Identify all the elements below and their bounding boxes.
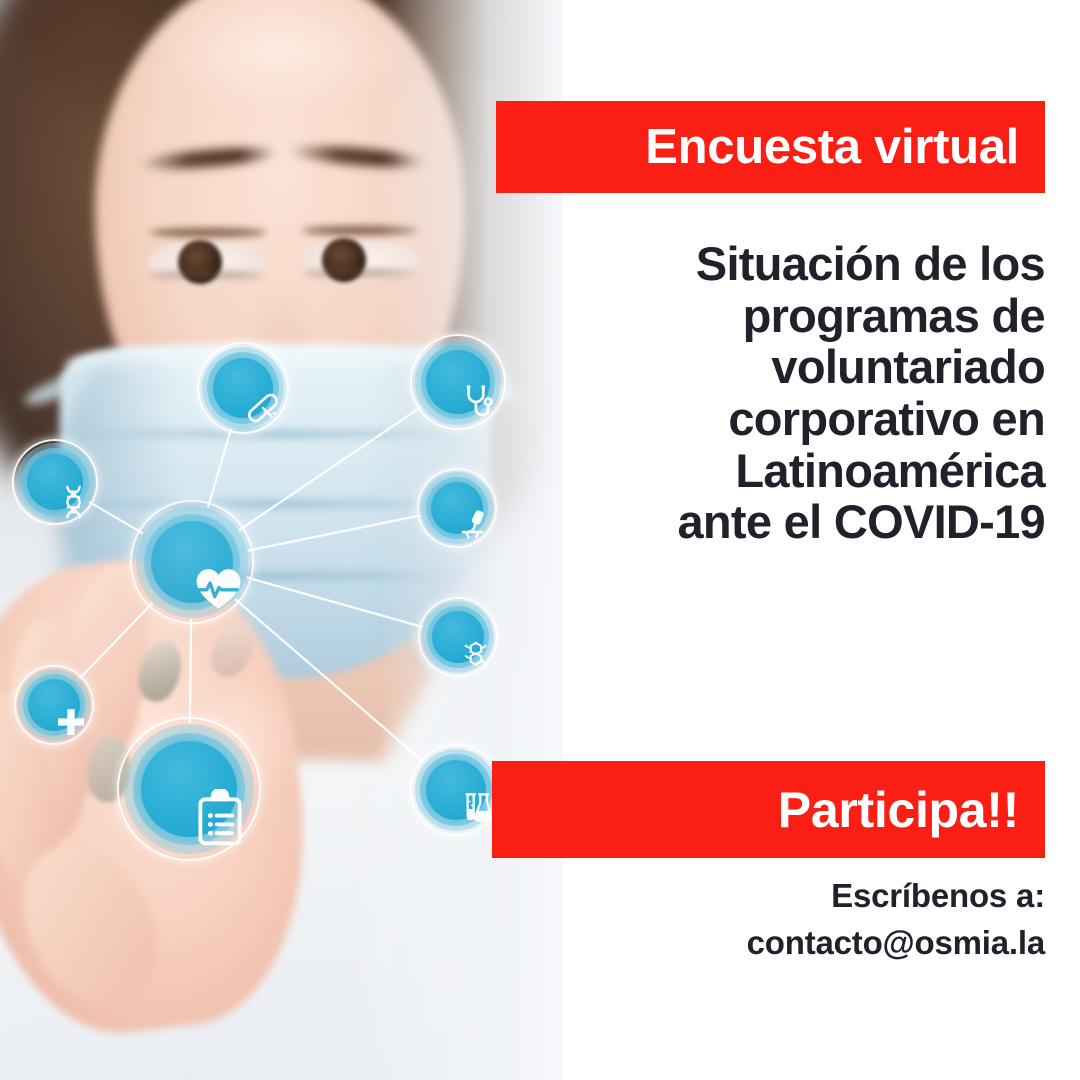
contact-block: Escríbenos a: contacto@osmia.la <box>560 873 1045 967</box>
participate-label: Participa!! <box>778 785 1045 835</box>
hologram-link <box>80 603 153 678</box>
call-to-action-banner[interactable]: Participa!! <box>492 761 1045 858</box>
page-title: Situación de los programas de voluntaria… <box>560 238 1045 548</box>
hologram-link <box>89 502 143 533</box>
hologram-node-molecule[interactable] <box>418 597 498 677</box>
hologram-link <box>190 619 191 723</box>
headline-line-1: Situación de los <box>560 238 1045 290</box>
headline-line-4: corporativo en <box>560 393 1045 445</box>
poster-canvas: Encuesta virtual Situación de los progra… <box>0 0 1080 1080</box>
hologram-node-microscope[interactable] <box>417 468 497 548</box>
hologram-node-flask[interactable] <box>410 744 502 836</box>
headline-line-3: voluntariado <box>560 341 1045 393</box>
hologram-link <box>208 429 231 508</box>
hologram-node-dna[interactable] <box>12 439 98 525</box>
contact-prompt: Escríbenos a: <box>560 873 1045 920</box>
hologram-node-clipboard[interactable] <box>117 717 261 861</box>
survey-type-banner: Encuesta virtual <box>496 101 1045 193</box>
hologram-node-pill[interactable] <box>197 342 289 434</box>
hologram-link <box>248 515 421 550</box>
headline-line-5: Latinoamérica <box>560 445 1045 497</box>
headline-line-6: ante el COVID-19 <box>560 496 1045 548</box>
hologram-node-plus[interactable] <box>14 665 94 745</box>
hologram-link <box>247 577 423 627</box>
hologram-network <box>0 0 563 1080</box>
hologram-node-stethoscope[interactable] <box>410 334 506 430</box>
contact-email[interactable]: contacto@osmia.la <box>560 920 1045 967</box>
headline-line-2: programas de <box>560 290 1045 342</box>
hologram-link <box>235 599 424 762</box>
survey-type-label: Encuesta virtual <box>645 123 1045 172</box>
hologram-node-heart[interactable] <box>130 500 254 624</box>
